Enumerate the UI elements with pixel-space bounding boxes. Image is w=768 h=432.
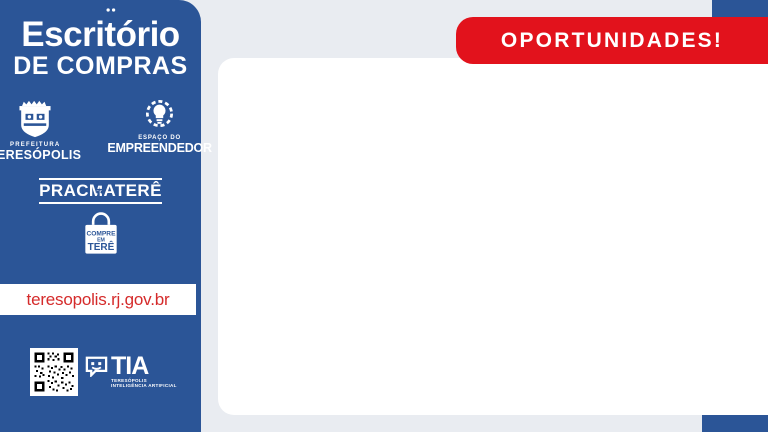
tia-sub2: INTELIGÊNCIA ARTIFICIAL bbox=[111, 383, 177, 389]
partner-logos: PREFEITURA TERESÓPOLIS ESPAÇO DO EMPREEN… bbox=[0, 99, 201, 162]
prefeitura-logo: PREFEITURA TERESÓPOLIS bbox=[0, 99, 81, 162]
compre-em-tere-logo: COMPRE EM TERÊ bbox=[78, 211, 124, 258]
brand-line2: DE COMPRAS bbox=[0, 53, 201, 79]
content-card bbox=[218, 58, 768, 415]
pracmatere-logo: PRACMATERÊ bbox=[39, 178, 162, 204]
qr-code-icon[interactable] bbox=[30, 348, 78, 396]
coat-of-arms-icon bbox=[16, 99, 54, 139]
tia-block: TIA TERESÓPOLIS INTELIGÊNCIA ARTIFICIAL bbox=[30, 348, 177, 396]
tia-logo: TIA TERESÓPOLIS INTELIGÊNCIA ARTIFICIAL bbox=[85, 355, 177, 389]
chat-bubble-face-icon bbox=[85, 356, 108, 377]
prefeitura-main: TERESÓPOLIS bbox=[0, 148, 81, 162]
shopping-cart-icon bbox=[101, 0, 118, 12]
tia-word: TIA bbox=[111, 355, 148, 378]
empreendedor-logo: ESPAÇO DO EMPREENDEDOR bbox=[107, 99, 212, 155]
website-url-bar[interactable]: teresopolis.rj.gov.br bbox=[0, 284, 196, 315]
tia-top-row: TIA bbox=[85, 355, 177, 378]
banner-title: OPORTUNIDADES! bbox=[501, 29, 723, 53]
oportunidades-banner: OPORTUNIDADES! bbox=[456, 17, 768, 64]
sidebar: Escritório DE COMPRAS PREFEITURA TERESÓP… bbox=[0, 0, 201, 432]
compre-text-3: TERÊ bbox=[87, 240, 114, 253]
compre-text-1: COMPRE bbox=[86, 231, 116, 238]
brand-line1: Escritório bbox=[21, 17, 179, 52]
bottom-right-blue-band bbox=[702, 415, 768, 432]
brand-logo: Escritório DE COMPRAS bbox=[0, 17, 201, 79]
cart-icon bbox=[92, 181, 105, 195]
gear-lightbulb-icon bbox=[143, 99, 176, 133]
website-url-text: teresopolis.rj.gov.br bbox=[27, 290, 170, 310]
shopping-bag-icon: COMPRE EM TERÊ bbox=[78, 211, 124, 258]
empreendedor-main: EMPREENDEDOR bbox=[107, 141, 212, 155]
